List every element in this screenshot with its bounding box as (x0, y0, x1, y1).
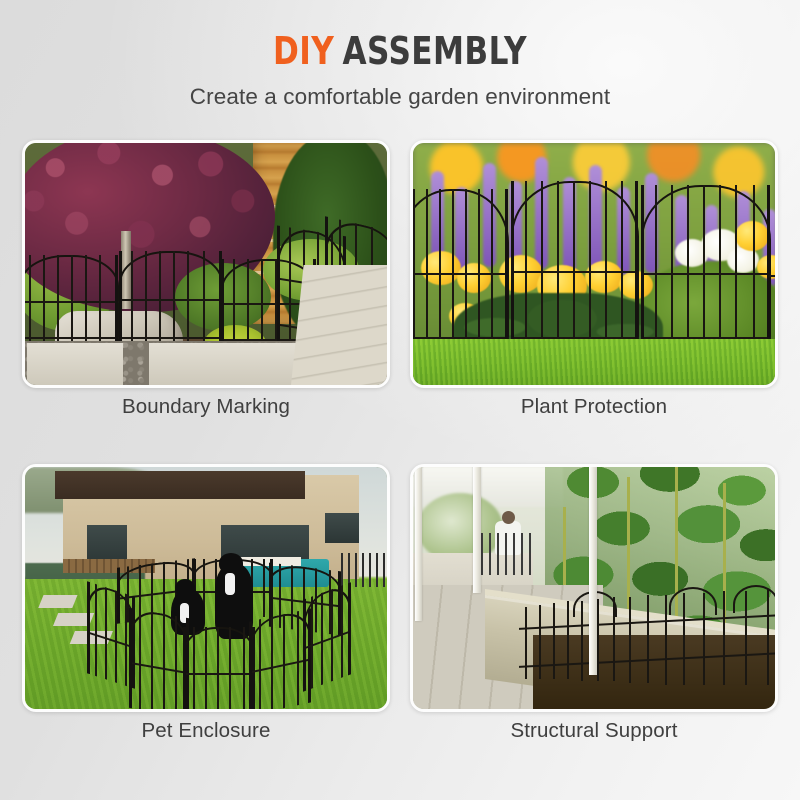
scene-garden-boundary (25, 143, 387, 385)
page-subtitle: Create a comfortable garden environment (0, 84, 800, 110)
poster: DIYASSEMBLY Create a comfortable garden … (0, 0, 800, 800)
card-caption: Plant Protection (410, 395, 778, 419)
scene-structural-support (413, 467, 775, 709)
card-caption: Boundary Marking (22, 395, 390, 419)
photo-structural-support (410, 464, 778, 712)
feature-card-boundary-marking: Boundary Marking (22, 140, 390, 426)
scene-pet-enclosure (25, 467, 387, 709)
fence-panel (303, 582, 351, 691)
title-highlight: DIY (273, 29, 334, 73)
fence-panel (183, 627, 255, 712)
scene-flower-bed (413, 143, 775, 385)
card-caption: Pet Enclosure (22, 719, 390, 743)
feature-grid: Boundary Marking (22, 140, 778, 784)
fence-panel (87, 581, 135, 689)
feature-card-pet-enclosure: Pet Enclosure (22, 464, 390, 750)
photo-plant-protection (410, 140, 778, 388)
card-caption: Structural Support (410, 719, 778, 743)
page-title: DIYASSEMBLY (72, 32, 728, 70)
feature-card-plant-protection: Plant Protection (410, 140, 778, 426)
feature-card-structural-support: Structural Support (410, 464, 778, 750)
fence-panel (249, 608, 311, 712)
photo-pet-enclosure (22, 464, 390, 712)
fence-panel (519, 585, 778, 685)
poster-header: DIYASSEMBLY Create a comfortable garden … (0, 0, 800, 110)
title-main: ASSEMBLY (342, 29, 527, 73)
fence-panel (129, 608, 189, 712)
photo-boundary-marking (22, 140, 390, 388)
